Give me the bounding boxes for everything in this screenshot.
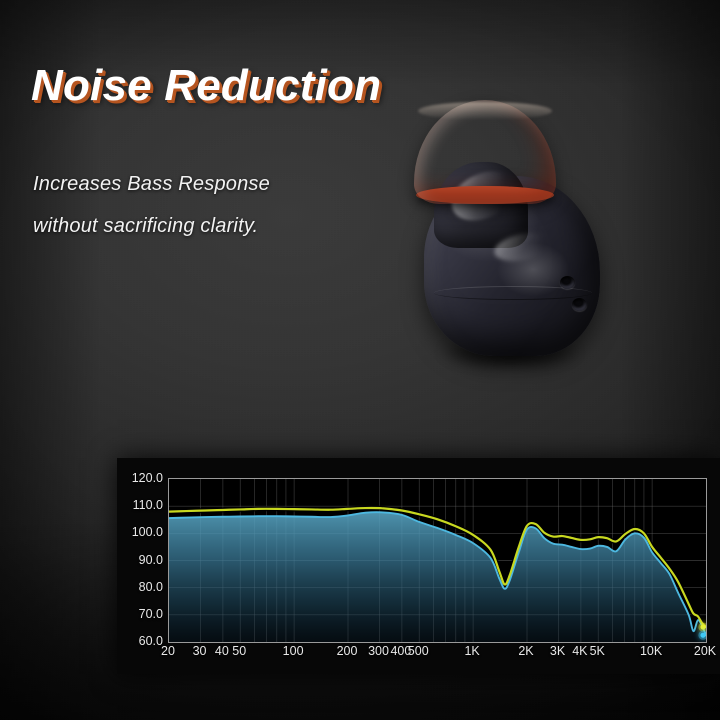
y-axis-tick-label: 60.0 bbox=[139, 634, 163, 648]
x-axis-tick-label: 20 bbox=[161, 644, 175, 658]
x-axis-tick-label: 50 bbox=[232, 644, 246, 658]
x-axis-tick-label: 200 bbox=[337, 644, 358, 658]
x-axis-tick-label: 30 bbox=[193, 644, 207, 658]
y-axis-tick-label: 70.0 bbox=[139, 607, 163, 621]
yellow-endpoint-core bbox=[700, 624, 705, 629]
x-axis-tick-label: 10K bbox=[640, 644, 662, 658]
y-axis-tick-label: 110.0 bbox=[133, 498, 163, 512]
y-axis-tick-label: 80.0 bbox=[139, 580, 163, 594]
ear-tip-highlight bbox=[418, 102, 552, 120]
chart-svg bbox=[169, 479, 706, 642]
page-title: Noise Reduction bbox=[31, 64, 381, 108]
microphone-port-icon bbox=[572, 298, 587, 311]
microphone-port-icon bbox=[560, 276, 575, 289]
x-axis-tick-label: 1K bbox=[464, 644, 479, 658]
x-axis-tick-label: 300 bbox=[368, 644, 389, 658]
x-axis-tick-label: 3K bbox=[550, 644, 565, 658]
subtitle-line-1: Increases Bass Response bbox=[33, 173, 270, 196]
x-axis-tick-label: 5K bbox=[590, 644, 605, 658]
product-poster: Noise Reduction Increases Bass Response … bbox=[0, 0, 720, 720]
x-axis-tick-label: 4K bbox=[572, 644, 587, 658]
x-axis-tick-label: 2K bbox=[518, 644, 533, 658]
x-axis-tick-label: 500 bbox=[408, 644, 429, 658]
subtitle-line-2: without sacrificing clarity. bbox=[33, 215, 258, 238]
y-axis-tick-label: 120.0 bbox=[132, 471, 163, 485]
blue-endpoint-core bbox=[700, 633, 705, 638]
y-axis-labels: 120.0110.0100.090.080.070.060.0 bbox=[117, 478, 163, 641]
chart-plot-area bbox=[168, 478, 707, 643]
earbud-product-image bbox=[378, 78, 628, 378]
x-axis-tick-label: 100 bbox=[283, 644, 304, 658]
y-axis-tick-label: 100.0 bbox=[132, 525, 163, 539]
x-axis-labels: 203040501002003004005001K2K3K4K5K10K20K bbox=[168, 644, 705, 666]
x-axis-tick-label: 20K bbox=[694, 644, 716, 658]
x-axis-tick-label: 40 bbox=[215, 644, 229, 658]
y-axis-tick-label: 90.0 bbox=[139, 553, 163, 567]
frequency-response-chart: 120.0110.0100.090.080.070.060.0 20304050… bbox=[117, 458, 720, 674]
